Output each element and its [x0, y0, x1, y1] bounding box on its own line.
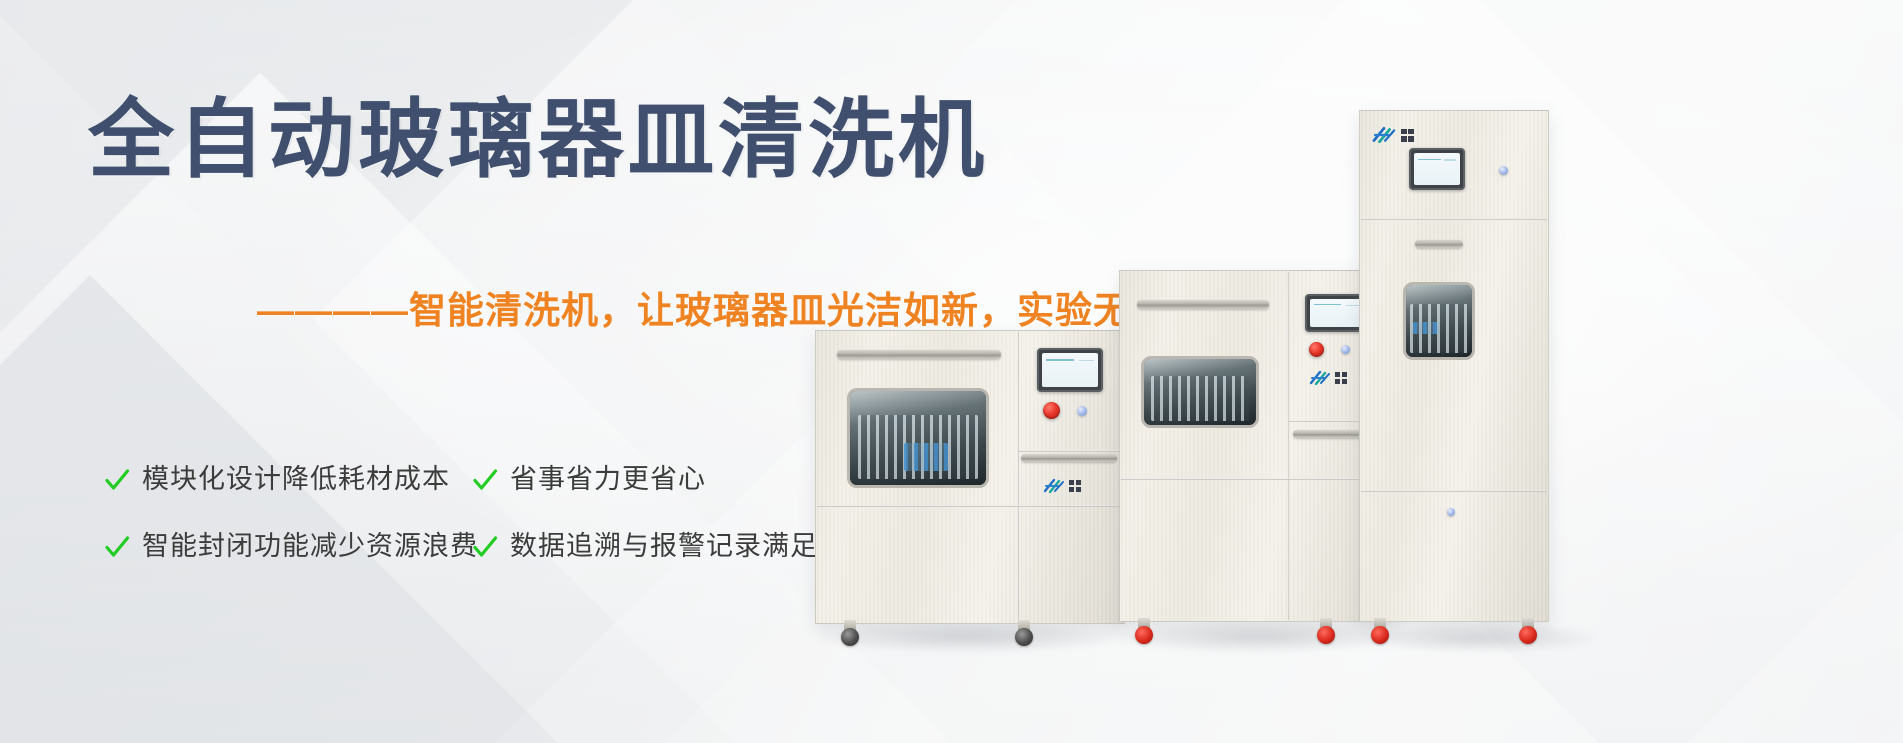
banner-headline: 全自动玻璃器皿清洗机 — [88, 97, 988, 183]
feature-item: 智能封闭功能减少资源浪费 — [104, 533, 472, 560]
caster-wheel — [1013, 620, 1035, 646]
brand-logo — [1043, 478, 1081, 494]
caster-wheel — [1315, 618, 1337, 644]
touchscreen-display[interactable] — [1037, 348, 1103, 392]
caster-wheel — [839, 620, 861, 646]
touchscreen-display[interactable] — [1409, 148, 1465, 190]
indicator-light[interactable] — [1077, 406, 1087, 416]
check-icon — [104, 467, 130, 493]
brand-logo — [1309, 370, 1347, 386]
check-icon — [472, 534, 498, 560]
product-photo-group — [903, 0, 1903, 743]
emergency-stop-button[interactable] — [1309, 342, 1324, 357]
product-banner: 全自动玻璃器皿清洗机 ————智能清洗机，让玻璃器皿光洁如新，实验无忧！ 模块化… — [0, 0, 1903, 743]
product-image-freestanding-washer — [1119, 270, 1395, 622]
feature-label: 省事省力更省心 — [510, 466, 706, 493]
caster-wheel — [1133, 618, 1155, 644]
viewing-window — [847, 388, 989, 488]
caster-wheel — [1369, 618, 1391, 644]
feature-label: 智能封闭功能减少资源浪费 — [142, 533, 478, 560]
viewing-window — [1141, 356, 1259, 428]
caster-wheel — [1517, 618, 1539, 644]
indicator-light[interactable] — [1499, 166, 1508, 175]
indicator-light[interactable] — [1341, 345, 1350, 354]
check-icon — [104, 534, 130, 560]
product-image-tall-column-washer — [1359, 110, 1549, 622]
viewing-window — [1403, 282, 1475, 360]
product-image-undercounter-washer — [815, 330, 1125, 624]
brand-logo — [1371, 126, 1414, 144]
feature-item: 模块化设计降低耗材成本 — [104, 466, 472, 493]
feature-label: 模块化设计降低耗材成本 — [142, 466, 450, 493]
check-icon — [472, 467, 498, 493]
emergency-stop-button[interactable] — [1043, 402, 1060, 419]
lower-panel-latch — [1447, 508, 1455, 516]
